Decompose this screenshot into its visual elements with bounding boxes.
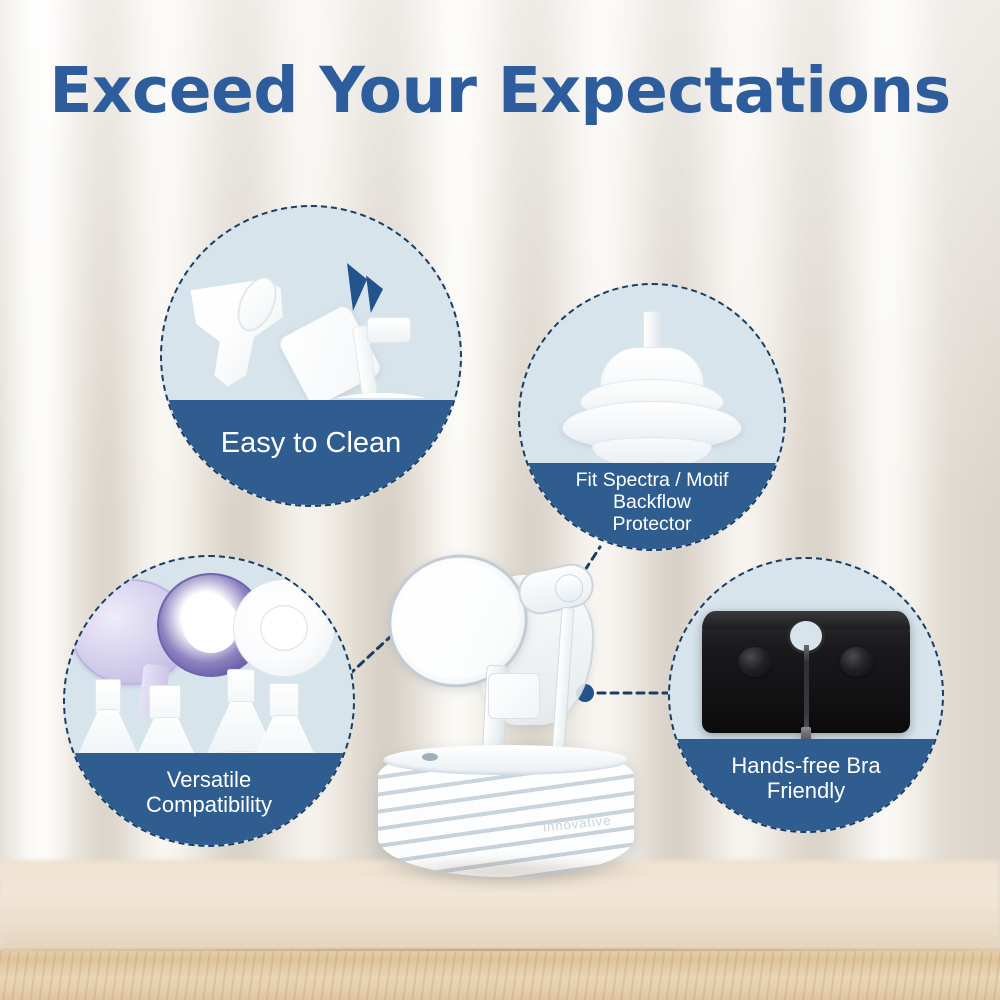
badge-easy-clean-banner: Easy to Clean [160,400,462,505]
badge-backflow-line-3: Protector [518,514,786,536]
infographic-stage: Exceed Your Expectations Easy to Clean [0,0,1000,1000]
product-collar-vent [422,753,438,761]
product-membrane-square [488,673,540,719]
badge-versatile-banner: Versatile Compatibility [63,753,355,845]
badge-easy-clean-line-1: Easy to Clean [160,427,462,459]
product-breast-pump-flange: innovative [370,545,640,875]
badge-bra-line-2: Friendly [668,779,944,804]
badge-backflow-line-2: Backflow [518,492,786,514]
badge-versatile-line-1: Versatile [63,768,355,793]
badge-hands-free-bra[interactable]: Hands-free Bra Friendly [668,557,944,833]
badge-bra-banner: Hands-free Bra Friendly [668,739,944,831]
badge-versatile-compatibility[interactable]: Versatile Compatibility [63,555,355,847]
badge-easy-clean[interactable]: Easy to Clean [160,205,462,507]
badge-bra-line-1: Hands-free Bra [668,754,944,779]
product-drop-shadow [366,857,646,885]
badge-backflow-banner: Fit Spectra / Motif Backflow Protector [518,463,786,549]
badge-backflow-protector[interactable]: Fit Spectra / Motif Backflow Protector [518,283,786,551]
badge-versatile-line-2: Compatibility [63,793,355,818]
badge-backflow-line-1: Fit Spectra / Motif [518,470,786,492]
